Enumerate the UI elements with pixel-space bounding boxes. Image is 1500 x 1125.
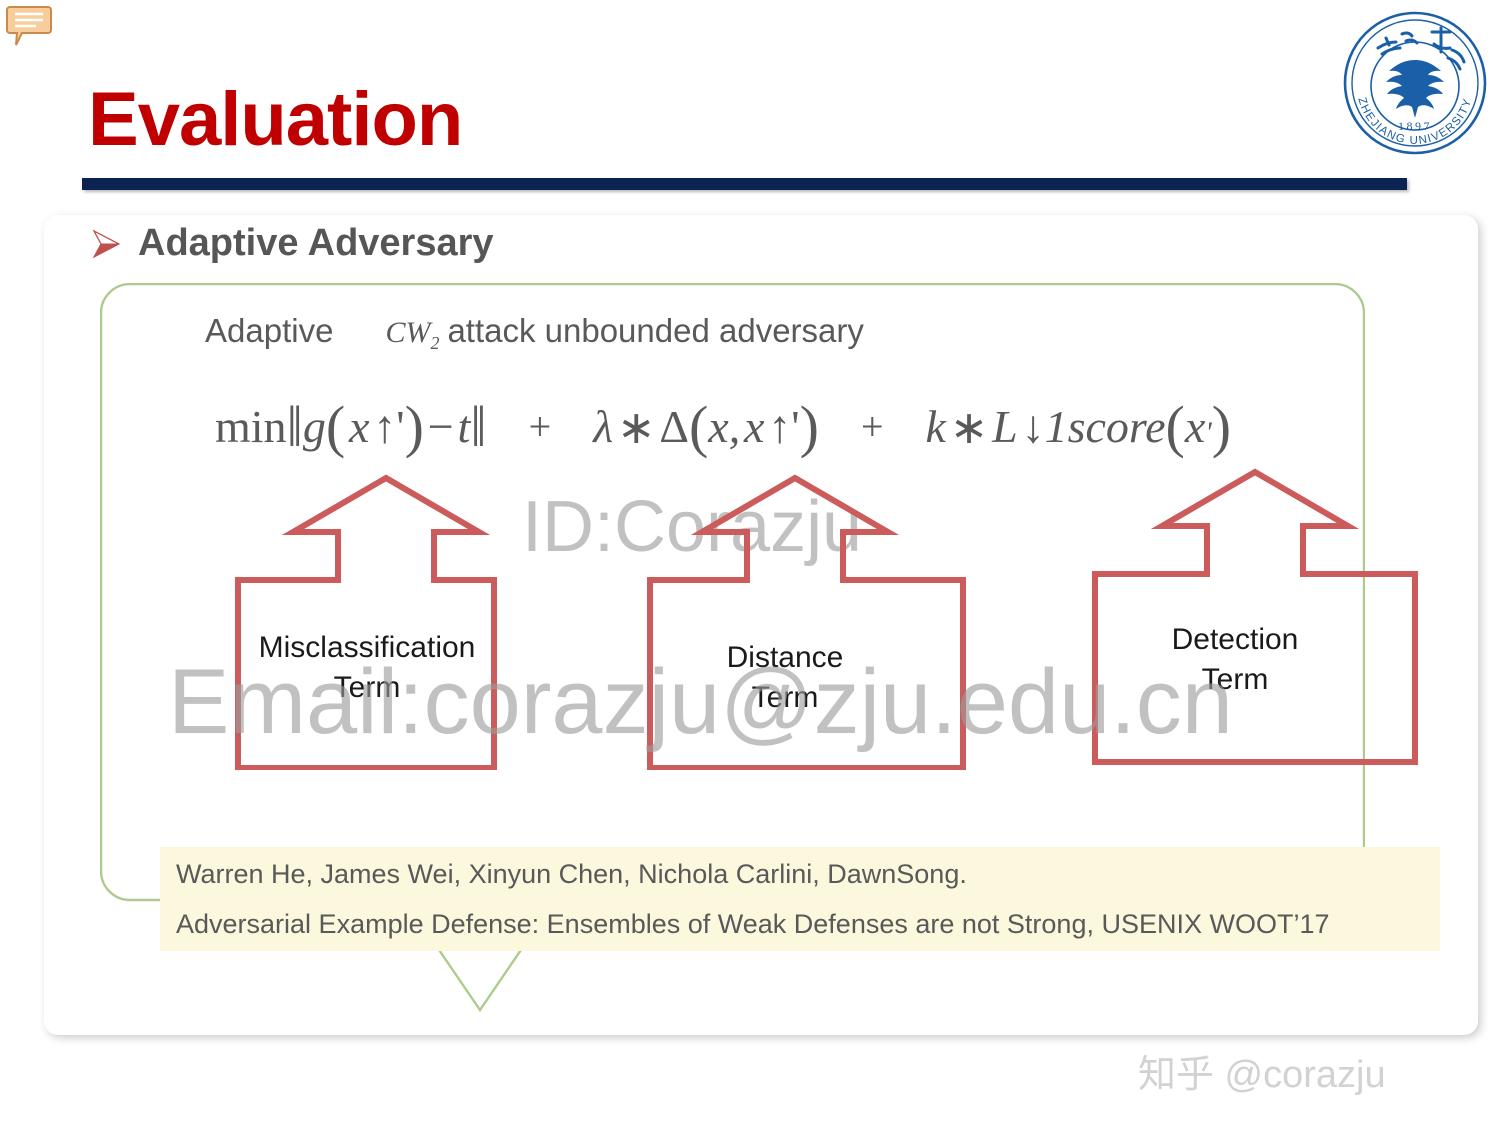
adaptive-prefix: Adaptive — [205, 312, 333, 350]
page-title: Evaluation — [88, 82, 462, 158]
arrow-bullet-icon — [92, 229, 120, 259]
misclassification-term-label: Misclassification Term — [182, 628, 552, 708]
adaptive-attack-line: Adaptive CW2 attack unbounded adversary — [205, 312, 864, 354]
cw2-math-token: CW2 — [385, 316, 439, 354]
slide-canvas: 1897 ZHEJIANG UNIVERSITY Evaluation Adap… — [0, 0, 1500, 1125]
citation-authors: Warren He, James Wei, Xinyun Chen, Nicho… — [176, 859, 967, 890]
comment-note-icon[interactable] — [6, 4, 52, 48]
detection-term-group: Detection Term — [1045, 462, 1425, 772]
bullet-heading-row: Adaptive Adversary — [92, 222, 494, 265]
title-underline-rule — [82, 178, 1407, 190]
detection-term-label: Detection Term — [1070, 620, 1400, 700]
svg-text:1897: 1897 — [1398, 119, 1432, 133]
distance-term-group: Distance Term — [600, 470, 970, 770]
zhejiang-university-logo: 1897 ZHEJIANG UNIVERSITY — [1340, 8, 1490, 158]
bullet-heading-label: Adaptive Adversary — [138, 222, 494, 265]
distance-term-label: Distance Term — [600, 638, 970, 718]
citation-title: Adversarial Example Defense: Ensembles o… — [176, 909, 1330, 940]
watermark-zhihu: 知乎 @corazju — [1138, 1043, 1386, 1098]
misclassification-term-group: Misclassification Term — [182, 470, 552, 770]
objective-formula: min‖g( x ↑') − t‖ + λ ∗ Δ(x, x ↑') + k ∗… — [215, 393, 1231, 460]
adaptive-suffix: attack unbounded adversary — [447, 312, 863, 350]
